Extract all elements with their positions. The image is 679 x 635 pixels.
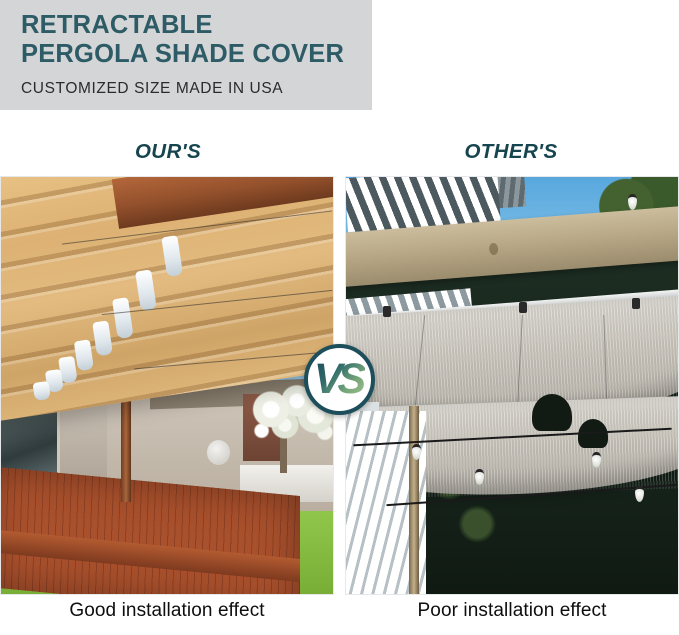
photo-others-poor-installation (345, 176, 679, 595)
vs-badge-label: VS (314, 358, 365, 401)
caption-poor-installation: Poor installation effect (345, 600, 679, 622)
satellite-dish (207, 440, 230, 465)
cloth-clip (383, 306, 391, 317)
cloth-clip (632, 298, 640, 309)
wood-knot (489, 242, 499, 255)
shade-gap (532, 394, 572, 432)
header-title-line1: RETRACTABLE (21, 11, 372, 40)
canopy-folds (1, 230, 211, 423)
photo-ours-good-installation (0, 176, 334, 595)
header-title-line2: PERGOLA SHADE COVER (21, 40, 372, 69)
label-others: OTHER'S (411, 140, 611, 164)
caption-good-installation: Good installation effect (0, 600, 334, 622)
scene-good-installation (1, 177, 333, 594)
string-light-bulb (635, 486, 644, 502)
vs-badge: VS (304, 344, 375, 415)
wood-post (409, 406, 419, 594)
header-banner: RETRACTABLE PERGOLA SHADE COVER CUSTOMIZ… (0, 0, 372, 110)
label-ours: OUR'S (68, 140, 268, 164)
cloth-clip (519, 302, 527, 313)
scene-poor-installation (346, 177, 678, 594)
photo-captions: Good installation effect Poor installati… (0, 600, 679, 635)
header-subtitle: CUSTOMIZED SIZE MADE IN USA (21, 80, 372, 98)
comparison-labels: OUR'S OTHER'S (0, 140, 679, 172)
